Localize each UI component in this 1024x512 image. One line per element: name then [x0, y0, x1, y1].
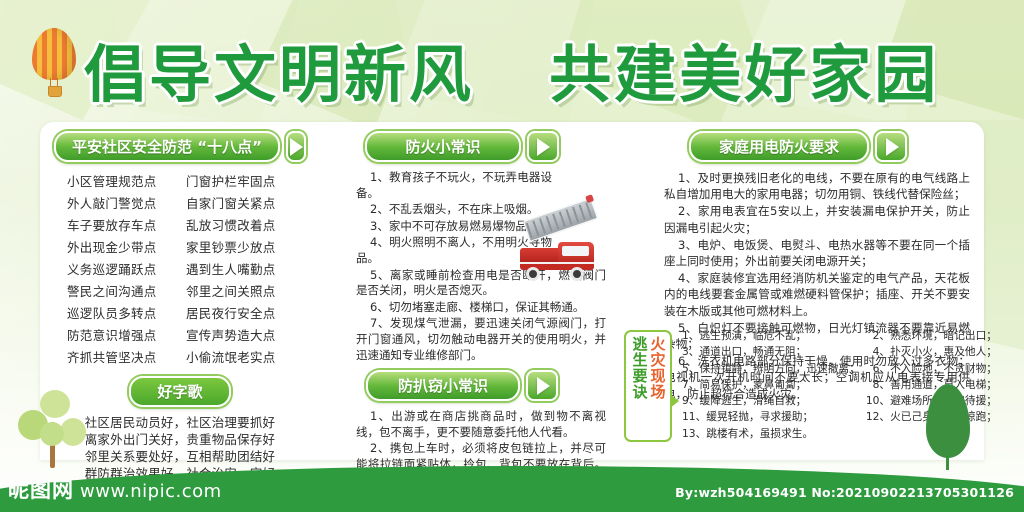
list-item: 1、及时更换残旧老化的电线，不要在原有的电气线路上私自增加用电大的家用电器；切勿… [664, 170, 970, 202]
balloon-envelope [32, 28, 76, 80]
list-item: 1、教育孩子不玩火，不玩弄电器设备。 [356, 170, 552, 201]
title-part-1: 倡导文明新风 [84, 38, 474, 111]
section-header-safety-18-points[interactable]: 平安社区安全防范 “十八点” [54, 131, 280, 162]
truck-wheel [570, 267, 584, 281]
section-header-row: 防火小常识 [312, 131, 612, 162]
escape-badge-scene: 火灾现场 [649, 336, 666, 440]
content-panel: 平安社区安全防范 “十八点” 小区管理规范点 门窗护栏牢固点 外人敲门警觉点 自… [40, 122, 984, 460]
list-item: 1、出游或在商店挑商品时，做到物不离视线，包不离手，更不要随意委托他人代看。 [356, 409, 606, 440]
safety-point: 自家门窗关紧点 [186, 193, 293, 212]
escape-tip: 3、通道出口，畅通无阻； [682, 344, 860, 360]
chevron-right-icon[interactable] [526, 370, 558, 401]
safety-point: 外人敲门警觉点 [67, 193, 174, 212]
chevron-right-icon[interactable] [527, 131, 559, 162]
escape-tip: 5、保持镇静，辨明方向，迅速撤离； [682, 361, 860, 377]
triangle-glyph [537, 377, 550, 395]
page-title: 倡导文明新风 共建美好家园 [84, 24, 939, 114]
section-header-anti-pickpocket[interactable]: 防扒窃小常识 [366, 370, 520, 401]
escape-tip: 6、不入险地，不贪财物； [866, 361, 997, 377]
triangle-glyph [886, 138, 899, 156]
safety-point: 乱放习惯改着点 [186, 215, 293, 234]
safety-point: 居民夜行安全点 [186, 303, 293, 322]
safety-point: 警民之间沟通点 [67, 281, 174, 300]
safety-point: 齐抓共管坚决点 [67, 347, 174, 366]
list-item: 2、不乱丢烟头，不在床上吸烟。 [356, 202, 552, 218]
escape-badge-keys: 逃生要诀 [631, 336, 648, 440]
list-item: 7、发现煤气泄漏，要迅速关闭气源阀门，打开门窗通风，切勿触动电器开关的使用明火，… [356, 316, 606, 363]
safety-points-grid: 小区管理规范点 门窗护栏牢固点 外人敲门警觉点 自家门窗关紧点 车子要放存车点 … [67, 171, 293, 366]
truck-window [562, 246, 589, 256]
truck-wheel [526, 267, 540, 281]
safety-point: 防范意识增强点 [67, 325, 174, 344]
escape-tip: 13、跳楼有术，虽损求生。 [682, 426, 860, 442]
escape-tip: 2、熟悉环境，暗记出口； [866, 328, 997, 344]
chevron-right-icon[interactable] [875, 131, 907, 162]
columns-container: 平安社区安全防范 “十八点” 小区管理规范点 门窗护栏牢固点 外人敲门警觉点 自… [40, 122, 984, 460]
author-credit: By:wzh504169491 No:20210902213705301126 [675, 485, 1014, 500]
safety-point: 车子要放存车点 [67, 215, 174, 234]
escape-badge: 火灾现场 逃生要诀 [624, 330, 672, 442]
section-header-row: 平安社区安全防范 “十八点” [54, 131, 306, 162]
list-item: 6、切勿堵塞走廊、楼梯口，保证其畅通。 [356, 300, 606, 316]
song-line: 社区居民动员好，社区治理要抓好 [64, 414, 296, 431]
section-header-row: 防扒窃小常识 [312, 370, 612, 401]
hot-air-balloon-icon [32, 28, 76, 98]
escape-tip: 9、缓降逃生，滑绳自救； [682, 393, 860, 409]
site-watermark: 昵图网 www.nipic.com [8, 474, 222, 504]
song-line: 离家外出门关好，贵重物品保存好 [64, 431, 296, 448]
list-item: 4、家庭装修宜选用经消防机关鉴定的电气产品，天花板内的电线要套金属管或难燃硬料管… [664, 270, 970, 319]
section-header-row: 家庭用电防火要求 [620, 131, 976, 162]
list-item: 2、家用电表宜在5安以上，并安装漏电保护开关，防止因漏电引起火灾； [664, 203, 970, 235]
balloon-basket [48, 86, 62, 97]
triangle-glyph [290, 138, 303, 156]
escape-tip: 11、缓晃轻抛，寻求援助； [682, 409, 860, 425]
section-header-home-electrical[interactable]: 家庭用电防火要求 [689, 131, 869, 162]
safety-point: 宣传声势造大点 [186, 325, 293, 344]
column-home-electrical-fire: 家庭用电防火要求 1、及时更换残旧老化的电线，不要在原有的电气线路上私自增加用电… [620, 122, 976, 403]
site-url: www.nipic.com [80, 481, 222, 502]
chevron-right-icon[interactable] [286, 131, 306, 162]
section-header-good-word-song[interactable]: 好字歌 [129, 376, 230, 407]
safety-point: 家里钞票少放点 [186, 237, 293, 256]
safety-point: 门窗护栏牢固点 [186, 171, 293, 190]
triangle-glyph [537, 138, 550, 156]
safety-point: 小偷流氓老实点 [186, 347, 293, 366]
poster-canvas: 倡导文明新风 共建美好家园 平安社区安全防范 “十八点” 小区管理规范点 门窗护… [0, 0, 1024, 512]
tree-foliage [40, 422, 64, 446]
escape-tip: 7、简易保护，蒙鼻匍匐； [682, 377, 860, 393]
tree-foliage [40, 390, 70, 418]
safety-point: 遇到生人嘴勤点 [186, 259, 293, 278]
fire-truck-icon [512, 218, 604, 280]
safety-point: 外出现金少带点 [67, 237, 174, 256]
site-name-cn: 昵图网 [8, 474, 74, 504]
list-item: 3、电炉、电饭煲、电熨斗、电热水器等不要在同一个插座上同时使用；外出前要关闭电源… [664, 237, 970, 269]
escape-tip: 4、扑灭小火，惠及他人； [866, 344, 997, 360]
column-fire-prevention: 防火小常识 [312, 122, 612, 512]
safety-point: 小区管理规范点 [67, 171, 174, 190]
safety-point: 巡逻队员多转点 [67, 303, 174, 322]
safety-point: 义务巡逻踊跃点 [67, 259, 174, 278]
section-header-fire-tips[interactable]: 防火小常识 [365, 131, 520, 162]
escape-tip: 1、逃生预演，临危不乱； [682, 328, 860, 344]
leaf-blade [926, 384, 970, 458]
title-part-2: 共建美好家园 [549, 38, 939, 111]
safety-point: 邻里之间关照点 [186, 281, 293, 300]
